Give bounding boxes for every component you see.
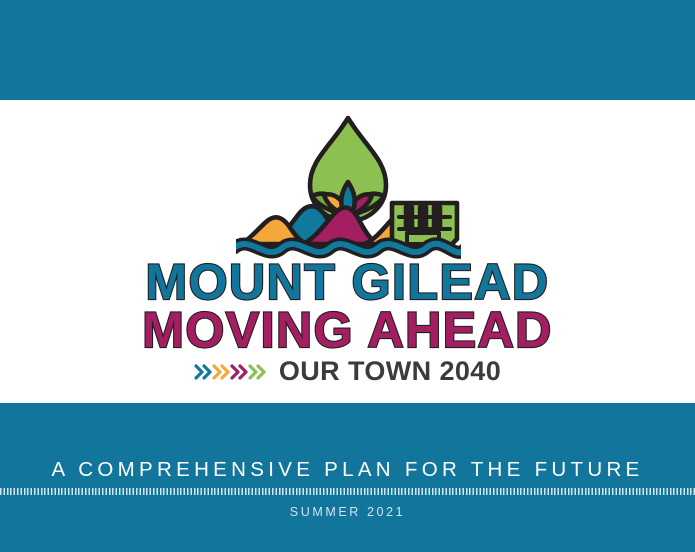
logo-tagline: OUR TOWN 2040 (279, 356, 501, 387)
storefront-upper-window-icon (406, 207, 412, 214)
cover-subtitle: A COMPREHENSIVE PLAN FOR THE FUTURE (0, 458, 695, 482)
storefront-middle-window-icon (420, 220, 426, 227)
storefront-upper-window-icon (434, 207, 440, 214)
cover-page: MOUNT GILEAD MOVING AHEAD (0, 0, 695, 552)
wordmark-line-one: MOUNT GILEAD (0, 258, 695, 306)
wordmark: MOUNT GILEAD MOVING AHEAD (0, 258, 695, 354)
top-color-band (0, 0, 695, 100)
chevron-arrows-icon (194, 361, 272, 383)
tagline-row: OUR TOWN 2040 (0, 356, 695, 387)
issue-date: SUMMER 2021 (0, 505, 695, 519)
dashed-divider (0, 488, 695, 495)
storefront-middle-window-icon (434, 220, 440, 227)
storefront-upper-window-icon (420, 207, 426, 214)
storefront-middle-window-icon (406, 220, 412, 227)
wordmark-line-two: MOVING AHEAD (0, 306, 695, 354)
logo-panel: MOUNT GILEAD MOVING AHEAD (0, 100, 695, 403)
bottom-color-band: A COMPREHENSIVE PLAN FOR THE FUTURE SUMM… (0, 403, 695, 552)
logo-emblem (236, 112, 461, 262)
